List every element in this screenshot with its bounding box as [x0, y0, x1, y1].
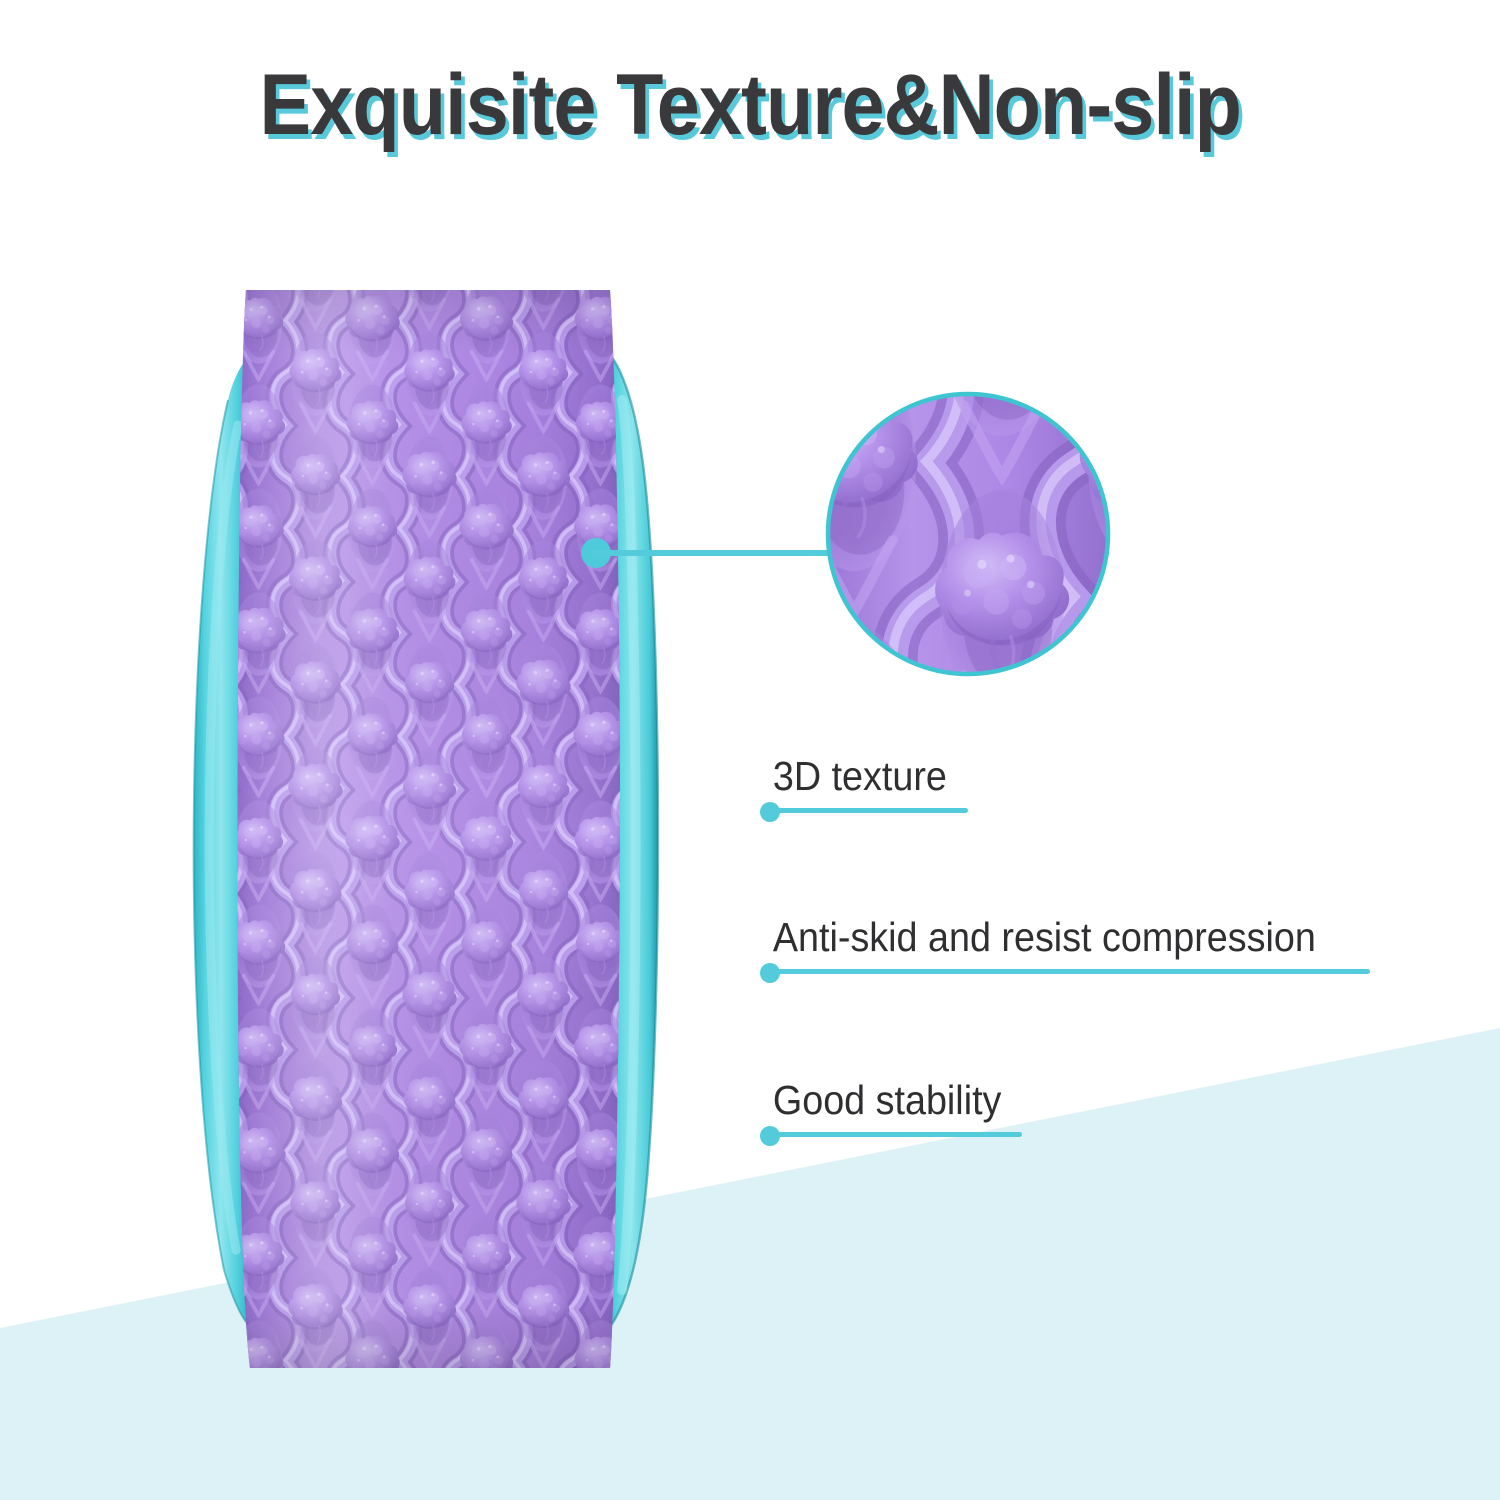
title-area: Exquisite Texture&Non-slip: [0, 62, 1500, 148]
feature-label: Anti-skid and resist compression: [760, 916, 1316, 959]
yoga-wheel-graphic: [150, 250, 710, 1390]
feature-label: Good stability: [760, 1079, 1001, 1122]
callout-connector-line: [592, 539, 837, 567]
rule-line: [770, 808, 968, 813]
feature-underline: [760, 1126, 1460, 1144]
feature-list: 3D texture Anti-skid and resist compress…: [760, 755, 1460, 1144]
feature-underline: [760, 802, 1460, 820]
rule-line: [770, 969, 1370, 974]
product-image-yoga-wheel: [150, 250, 710, 1390]
page-title: Exquisite Texture&Non-slip: [259, 62, 1241, 148]
rule-line: [770, 1132, 1022, 1137]
feature-item-good-stability: Good stability: [760, 1079, 1460, 1144]
feature-item-anti-skid: Anti-skid and resist compression: [760, 916, 1460, 981]
bullet-dot-icon: [760, 963, 780, 983]
bullet-dot-icon: [760, 802, 780, 822]
product-feature-infographic: Exquisite Texture&Non-slip: [0, 0, 1500, 1500]
texture-magnifier-callout: [820, 388, 1120, 688]
feature-label: 3D texture: [760, 755, 947, 798]
feature-item-3d-texture: 3D texture: [760, 755, 1460, 820]
magnifier-circle: [820, 388, 1120, 688]
bullet-dot-icon: [760, 1126, 780, 1146]
feature-underline: [760, 963, 1460, 981]
